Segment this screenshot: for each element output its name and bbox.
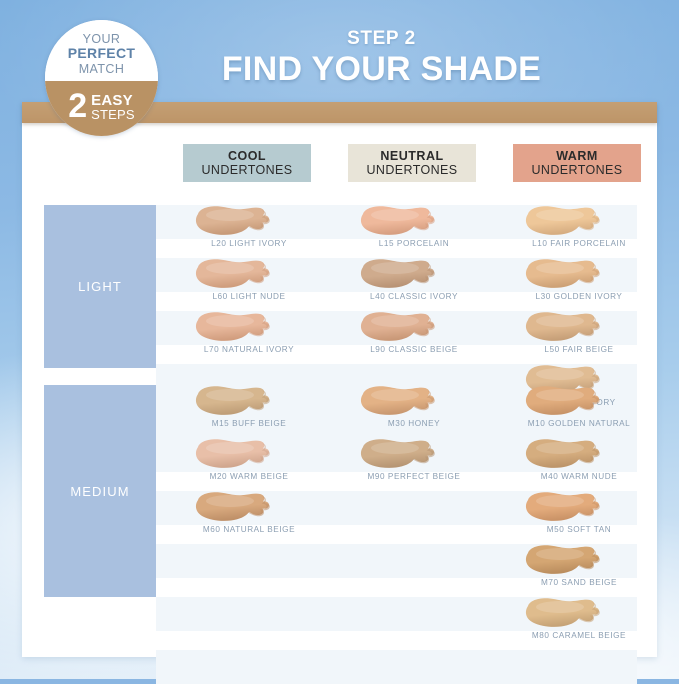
shade-label: M50 SOFT TAN <box>504 525 654 534</box>
swatch-shape <box>186 385 282 419</box>
column-header-neutral-title: NEUTRAL <box>380 149 443 163</box>
shade-cell[interactable]: M60 NATURAL BEIGE <box>174 491 324 544</box>
shade-cell[interactable]: L40 CLASSIC IVORY <box>339 258 489 311</box>
badge-bottom: 2 EASY STEPS <box>45 81 158 136</box>
shade-swatch <box>186 205 282 239</box>
swatch-shape <box>516 544 612 578</box>
shade-label: L50 FAIR BEIGE <box>504 345 654 354</box>
shade-cell[interactable]: M90 PERFECT BEIGE <box>339 438 489 491</box>
column-header-neutral: NEUTRAL UNDERTONES <box>348 144 476 182</box>
shade-swatch <box>186 258 282 292</box>
shade-label: M60 NATURAL BEIGE <box>174 525 324 534</box>
shade-label: M40 WARM NUDE <box>504 472 654 481</box>
swatch-shape <box>351 438 447 472</box>
shade-label: M80 CARAMEL BEIGE <box>504 631 654 640</box>
shade-label: M90 PERFECT BEIGE <box>339 472 489 481</box>
swatch-shape <box>351 205 447 239</box>
swatch-shape <box>186 438 282 472</box>
swatch-shape <box>516 491 612 525</box>
group-block-light: LIGHT <box>44 205 156 368</box>
shade-swatch <box>516 311 612 345</box>
shade-swatch <box>516 385 612 419</box>
shade-label: M70 SAND BEIGE <box>504 578 654 587</box>
shade-cell[interactable]: M15 BUFF BEIGE <box>174 385 324 438</box>
shade-swatch <box>516 491 612 525</box>
shade-swatch <box>186 311 282 345</box>
badge-line-match: MATCH <box>79 62 125 76</box>
badge-line-your: YOUR <box>83 32 121 46</box>
shade-label: L15 PORCELAIN <box>339 239 489 248</box>
column-header-warm-subtitle: UNDERTONES <box>531 163 622 177</box>
shade-swatch <box>516 438 612 472</box>
badge-number: 2 <box>68 93 87 121</box>
shade-swatch <box>516 544 612 578</box>
shade-cell[interactable]: M50 SOFT TAN <box>504 491 654 544</box>
swatch-shape <box>186 491 282 525</box>
shade-label: L70 NATURAL IVORY <box>174 345 324 354</box>
shade-label: L60 LIGHT NUDE <box>174 292 324 301</box>
shade-cell[interactable]: M40 WARM NUDE <box>504 438 654 491</box>
group-block-medium: MEDIUM <box>44 385 156 597</box>
shade-swatch <box>516 205 612 239</box>
shade-label: L40 CLASSIC IVORY <box>339 292 489 301</box>
shade-swatch <box>351 311 447 345</box>
shade-cell[interactable]: L60 LIGHT NUDE <box>174 258 324 311</box>
column-header-neutral-subtitle: UNDERTONES <box>366 163 457 177</box>
shade-swatch <box>186 438 282 472</box>
group-label-medium: MEDIUM <box>70 484 129 499</box>
shade-swatch <box>351 258 447 292</box>
swatch-shape <box>516 597 612 631</box>
shade-cell[interactable]: L70 NATURAL IVORY <box>174 311 324 364</box>
shade-cell[interactable]: M10 GOLDEN NATURAL <box>504 385 654 438</box>
shade-label: M30 HONEY <box>339 419 489 428</box>
shade-label: L20 LIGHT IVORY <box>174 239 324 248</box>
badge-easy-label: EASY <box>91 93 133 108</box>
badge-steps-label: STEPS <box>91 108 135 121</box>
badge-top: YOUR PERFECT MATCH <box>45 20 158 81</box>
shade-cell[interactable]: L15 PORCELAIN <box>339 205 489 258</box>
swatch-shape <box>186 205 282 239</box>
shade-cell[interactable]: L20 LIGHT IVORY <box>174 205 324 258</box>
swatch-shape <box>351 385 447 419</box>
column-header-cool: COOL UNDERTONES <box>183 144 311 182</box>
perfect-match-badge: YOUR PERFECT MATCH 2 EASY STEPS <box>45 20 158 136</box>
swatch-shape <box>186 311 282 345</box>
shade-label: M15 BUFF BEIGE <box>174 419 324 428</box>
shade-cell[interactable]: M20 WARM BEIGE <box>174 438 324 491</box>
swatch-shape <box>516 438 612 472</box>
group-label-light: LIGHT <box>78 279 122 294</box>
badge-line-perfect: PERFECT <box>68 46 135 62</box>
shade-swatch <box>351 385 447 419</box>
shade-label: L90 CLASSIC BEIGE <box>339 345 489 354</box>
shade-label: M10 GOLDEN NATURAL <box>504 419 654 428</box>
swatch-shape <box>351 258 447 292</box>
shade-swatch <box>186 491 282 525</box>
swatch-shape <box>186 258 282 292</box>
shade-cell[interactable]: L30 GOLDEN IVORY <box>504 258 654 311</box>
shade-label: L30 GOLDEN IVORY <box>504 292 654 301</box>
shade-swatch <box>186 385 282 419</box>
shade-cell[interactable]: M80 CARAMEL BEIGE <box>504 597 654 650</box>
column-header-warm-title: WARM <box>556 149 598 163</box>
shade-label: M20 WARM BEIGE <box>174 472 324 481</box>
column-header-warm: WARM UNDERTONES <box>513 144 641 182</box>
shade-cell[interactable]: M70 SAND BEIGE <box>504 544 654 597</box>
swatch-shape <box>516 258 612 292</box>
shade-cell[interactable]: L50 FAIR BEIGE <box>504 311 654 364</box>
shade-swatch <box>516 258 612 292</box>
shade-swatch <box>351 438 447 472</box>
column-header-cool-title: COOL <box>228 149 266 163</box>
swatch-shape <box>516 385 612 419</box>
shade-cell[interactable]: L90 CLASSIC BEIGE <box>339 311 489 364</box>
swatch-shape <box>516 311 612 345</box>
swatch-shape <box>351 311 447 345</box>
shade-swatch <box>351 205 447 239</box>
shade-label: L10 FAIR PORCELAIN <box>504 239 654 248</box>
shade-cell[interactable]: L10 FAIR PORCELAIN <box>504 205 654 258</box>
column-header-cool-subtitle: UNDERTONES <box>201 163 292 177</box>
shade-cell[interactable]: M30 HONEY <box>339 385 489 438</box>
swatch-shape <box>516 205 612 239</box>
shade-swatch <box>516 597 612 631</box>
